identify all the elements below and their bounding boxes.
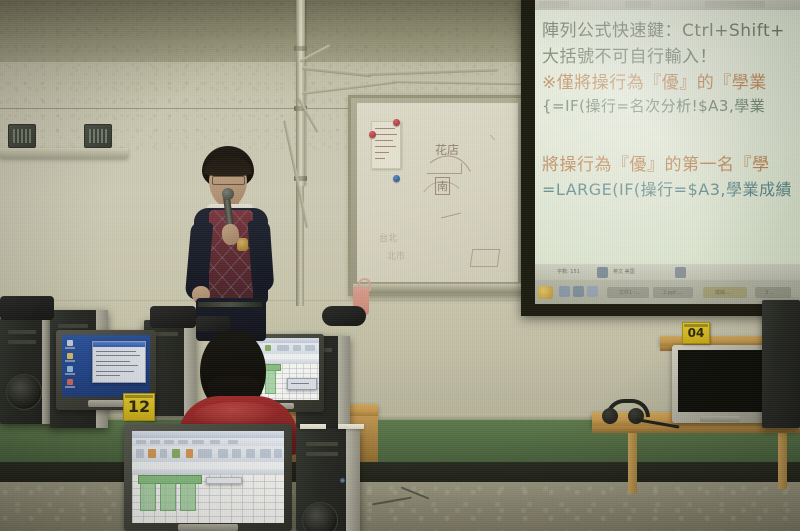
monitor-right-screen [678, 350, 762, 412]
tower-drive-bay [8, 330, 36, 334]
desk-bag [322, 306, 366, 326]
quicklaunch-icon[interactable] [573, 286, 584, 297]
slide-line-1: 陣列公式快速鍵：Ctrl+Shift+ [542, 16, 800, 41]
classroom-photo: 花店 南 台北 北市 陣列公式快速鍵：Ctr [0, 0, 800, 531]
whiteboard-writing: 台北 [379, 231, 397, 244]
label-cap [684, 324, 708, 327]
quicklaunch-icon[interactable] [587, 286, 598, 297]
podium-shadow-strip [0, 462, 800, 484]
monitor-excel-front-screen[interactable] [132, 431, 284, 523]
tower-side-panel [346, 428, 360, 531]
device-grille [89, 129, 107, 143]
projected-slide: 陣列公式快速鍵：Ctrl+Shift+ 大括號不可自行輸入！ ※僅將操行為『優』… [535, 0, 800, 304]
instructor-belt [198, 302, 262, 307]
whiteboard-mark [490, 134, 495, 140]
window-titlebar[interactable] [93, 342, 145, 347]
tower-fan-grille [302, 502, 338, 531]
tower-drive-bay [306, 452, 338, 456]
language-status: 英文 美国 [613, 268, 635, 275]
taskbar-button-label: 3 ... [765, 290, 775, 296]
slide-line-3: ※僅將操行為『優』的『學業 [542, 68, 800, 93]
whiteboard-magnet-red [393, 119, 400, 126]
excel-highlighted-cells [160, 483, 176, 511]
excel-highlighted-cells [140, 483, 156, 511]
taskbar-button-label: 文件1 -... [619, 289, 640, 296]
monitor-desktop-screen[interactable] [62, 335, 150, 397]
excel-namebox[interactable] [206, 477, 242, 484]
seat-label-12: 12 [123, 393, 155, 421]
whiteboard-magnet-red [369, 131, 376, 138]
pc-tower-front [296, 428, 360, 531]
status-icon [675, 267, 686, 278]
powerpoint-toolbar [535, 0, 800, 10]
conduit-band [294, 46, 307, 51]
monitor-base [700, 416, 740, 422]
tower-drive-bay [58, 324, 88, 328]
whiteboard-writing: 北市 [387, 249, 405, 262]
word-count-status: 字數: 151 [557, 268, 580, 275]
taskbar-button-label: 2.ppt ... [663, 290, 682, 296]
wall-device [8, 124, 36, 148]
desk-clutter [150, 306, 196, 328]
seat-label-text: 04 [688, 327, 705, 339]
excel-titlebar[interactable] [132, 431, 284, 438]
monitor-right [672, 345, 768, 423]
tower-fan-grille [6, 374, 42, 410]
pc-tower-right [762, 300, 800, 428]
instructor-right-arm [248, 219, 275, 292]
instructor-glasses [212, 176, 245, 185]
slide-line-6: =LARGE(IF(操行=$A3,學業成績 [542, 176, 800, 200]
seat-label-04: 04 [682, 322, 710, 344]
monitor-base [178, 524, 238, 531]
whiteboard-marker-tray [353, 283, 521, 293]
desk-leg [778, 433, 787, 489]
device-grille [13, 129, 31, 143]
excel-ribbon[interactable] [132, 446, 284, 463]
tower-drive-bay [306, 442, 338, 446]
seat-label-text: 12 [128, 399, 150, 415]
wall-device [84, 124, 112, 148]
desktop-icon[interactable] [67, 353, 73, 359]
desktop-icon[interactable] [67, 340, 73, 346]
whiteboard-magnet-blue [393, 175, 400, 182]
tower-power-led [340, 478, 345, 483]
desktop-icon[interactable] [67, 366, 73, 372]
desk-leg [628, 433, 637, 493]
start-button[interactable] [538, 286, 553, 299]
excel-highlighted-cells [180, 483, 196, 511]
wall-shelf [0, 148, 128, 158]
projection-screen-inner: 陣列公式快速鍵：Ctrl+Shift+ 大括號不可自行輸入！ ※僅將操行為『優』… [535, 0, 800, 304]
tower-drive-bay [8, 340, 36, 344]
whiteboard: 花店 南 台北 北市 [348, 95, 526, 296]
windows-taskbar[interactable]: 字數: 151 英文 美国 文件1 -... 2.ppt ... 成绩... [535, 264, 800, 304]
paper-label [300, 424, 326, 429]
speaker-icon [597, 267, 608, 278]
taskbar-button-label: 成绩... [715, 289, 730, 296]
instructor-vest-crest [237, 238, 248, 251]
monitor-excel-front [124, 424, 292, 531]
tower-side-panel [338, 336, 350, 428]
excel-window[interactable] [132, 431, 284, 523]
whiteboard-box [470, 249, 501, 267]
quicklaunch-icon[interactable] [559, 286, 570, 297]
slide-line-2: 大括號不可自行輸入！ [542, 42, 800, 67]
floor-speckle [0, 482, 800, 531]
headphone-cup-left [602, 408, 618, 424]
whiteboard-surface: 花店 南 台北 北市 [357, 103, 518, 282]
pc-tower-1 [0, 318, 54, 424]
label-cap [125, 395, 153, 398]
projection-screen: 陣列公式快速鍵：Ctrl+Shift+ 大括號不可自行輸入！ ※僅將操行為『優』… [521, 0, 800, 316]
slide-line-4: {=IF(操行=名次分析!$A3,學業 [542, 95, 800, 116]
slide-line-5: 將操行為『優』的第一名『學 [542, 150, 800, 175]
desk-clutter [0, 296, 54, 320]
whiteboard-paper-note [371, 121, 401, 169]
monitor-base [88, 400, 124, 407]
desktop-window[interactable] [92, 341, 146, 383]
paper-label [338, 424, 364, 429]
desktop-icon[interactable] [67, 379, 73, 385]
floor [0, 482, 800, 531]
